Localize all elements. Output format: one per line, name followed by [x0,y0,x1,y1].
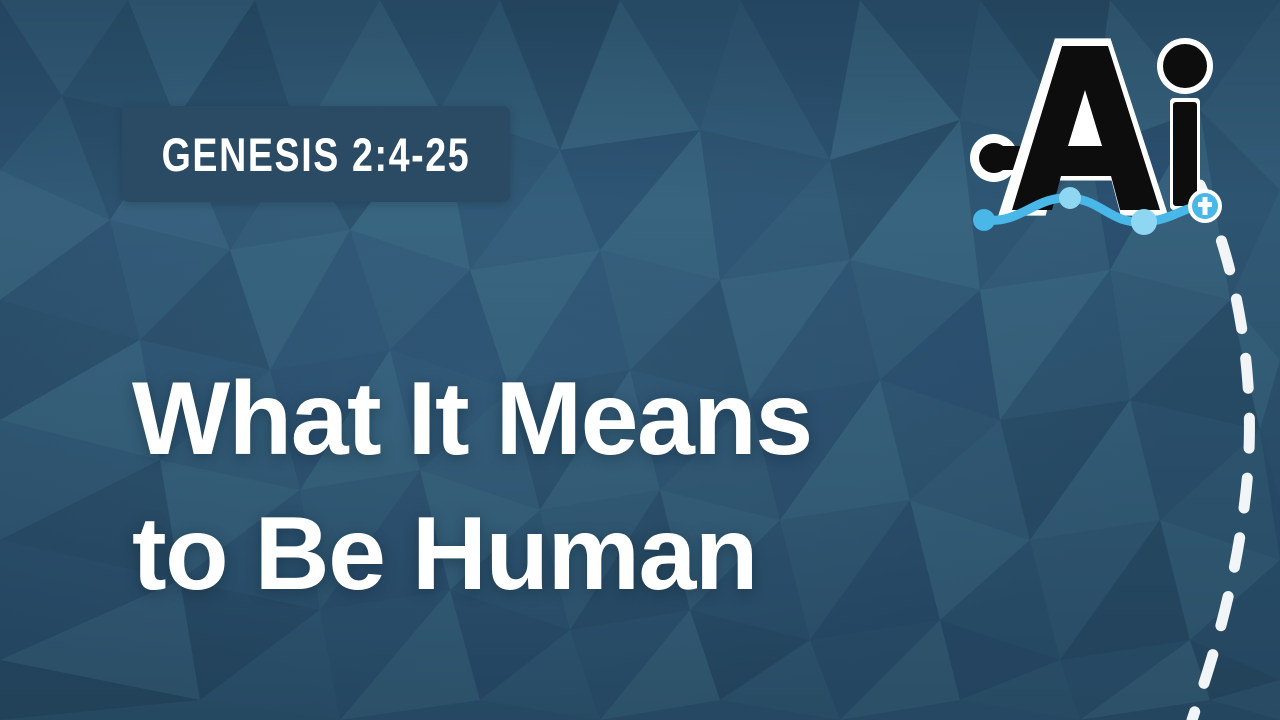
page-title: What It Means to Be Human [132,352,1112,622]
title-slide: GENESIS 2:4-25 What It Means to Be Human [0,0,1280,720]
ai-logo [962,28,1222,248]
title-line-2: to Be Human [132,487,1112,622]
scripture-reference-text: GENESIS 2:4-25 [162,131,471,178]
title-line-1: What It Means [132,352,1112,487]
scripture-reference-badge: GENESIS 2:4-25 [122,106,510,202]
